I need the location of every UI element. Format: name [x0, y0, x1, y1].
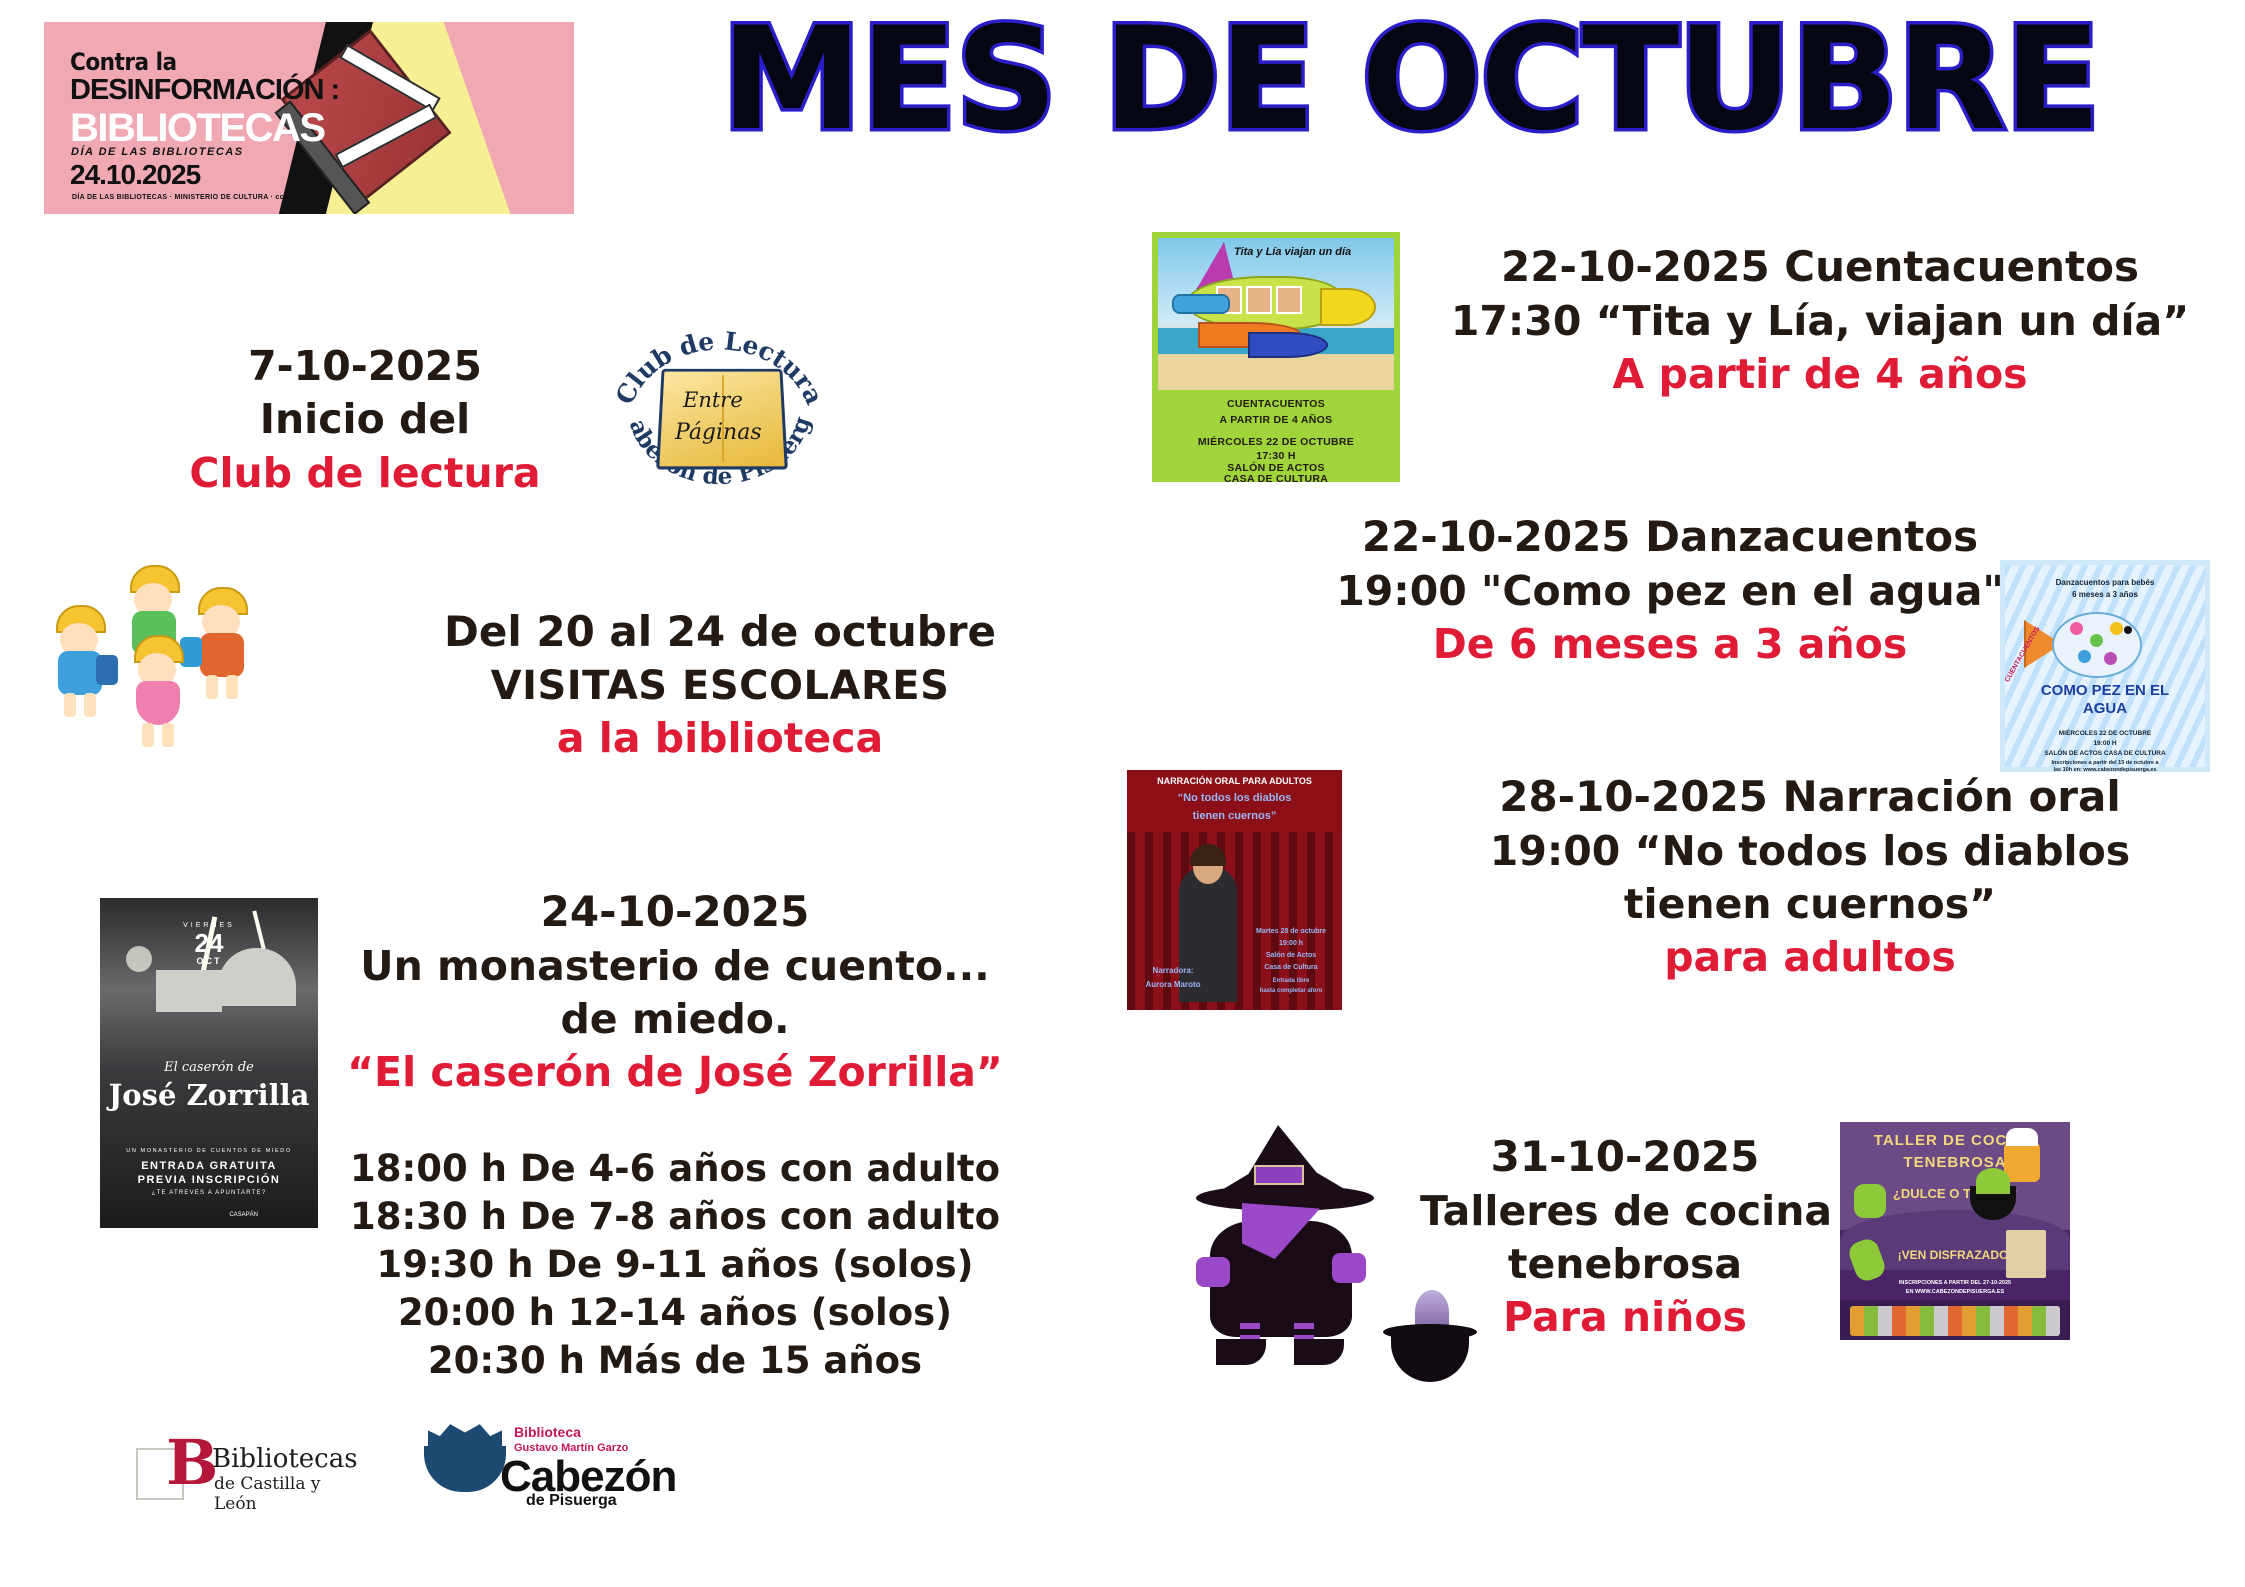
poster-pez-foot3: SALÓN DE ACTOS CASA DE CULTURA — [2000, 750, 2210, 757]
event-club-date: 7-10-2025 — [130, 340, 600, 393]
poster-narracion-info4: Casa de Cultura — [1245, 964, 1337, 971]
event-escolares-highlight: a la biblioteca — [410, 712, 1030, 765]
plane-wing-blue — [1172, 294, 1230, 314]
chef-hat-icon — [2006, 1128, 2038, 1146]
event-cocina-tenebrosa: 31-10-2025 Talleres de cocina tenebrosa … — [1420, 1130, 1830, 1344]
poster-taller-de-cocina-tenebrosa: TALLER DE COCINA TENEBROSA ¿DULCE O TRUC… — [1840, 1122, 2070, 1340]
event-cuentacuentos-age: A partir de 4 años — [1400, 348, 2240, 401]
event-monasterio-date: 24-10-2025 — [330, 885, 1020, 940]
poster-zorrilla-line2: PREVIA INSCRIPCIÓN — [100, 1174, 318, 1186]
event-escolares-title: VISITAS ESCOLARES — [410, 660, 1030, 712]
logo-bcyl-letter: B — [166, 1432, 218, 1494]
poster-narracion-title1: “No todos los diablos — [1127, 792, 1342, 804]
poster-zorrilla-line3: ¿TE ATREVES A APUNTARTE? — [100, 1190, 318, 1196]
poster-tita-cap6: CASA DE CULTURA — [1158, 473, 1394, 482]
poster-zorrilla-num: 24 — [100, 928, 318, 959]
poster-tita-cap3: MIÉRCOLES 22 DE OCTUBRE — [1158, 436, 1394, 448]
witch-boot-right — [1294, 1339, 1344, 1365]
poster-tita-cap1: CUENTACUENTOS — [1158, 398, 1394, 410]
cocina-potion-smoke-icon — [1976, 1168, 2010, 1194]
event-monasterio-line3: de miedo. — [330, 993, 1020, 1046]
schedule-row: 18:30 h De 7-8 años con adulto — [330, 1193, 1020, 1241]
poster-narracion-info3: Salón de Actos — [1245, 952, 1337, 959]
poster1-subtitle: DÍA DE LAS BIBLIOTECAS — [71, 146, 244, 158]
poster-narracion-narrator1: Narradora: — [1131, 966, 1215, 975]
poster1-date: 24.10.2025 — [70, 159, 200, 191]
fish-scale-3 — [2110, 622, 2123, 635]
club-logo-word-entre: Entre — [683, 388, 743, 412]
event-cocina-line3: tenebrosa — [1420, 1238, 1830, 1291]
poster1-line1: Contra la — [70, 48, 177, 76]
poster-pez-title1: COMO PEZ EN EL — [2000, 682, 2210, 699]
event-club-line2: Inicio del — [130, 393, 600, 446]
event-visitas-escolares: Del 20 al 24 de octubre VISITAS ESCOLARE… — [410, 605, 1030, 765]
event-danzacuentos-title: 22-10-2025 Danzacuentos — [1230, 510, 2110, 565]
event-danzacuentos-time: 19:00 "Como pez en el agua" — [1230, 565, 2110, 618]
monster-icon — [1854, 1184, 1886, 1218]
crown-icon — [428, 1420, 502, 1446]
poster-pez-foot1: MIÉRCOLES 22 DE OCTUBRE — [2000, 730, 2210, 737]
logo-bcyl-name1: Bibliotecas — [212, 1444, 358, 1474]
logo-cabezon-sub: de Pisuerga — [526, 1492, 617, 1510]
monastery-wing-shape — [156, 970, 222, 1012]
poster-tita-cap2: A PARTIR DE 4 AÑOS — [1158, 414, 1394, 426]
logo-club-de-lectura-entre-paginas: Club de Lectura Cabezón de Pisuerga Entr… — [607, 330, 832, 500]
illustration-schoolchildren — [30, 565, 320, 750]
logo-bibliotecas-de-castilla-y-leon: B Bibliotecas de Castilla y León — [120, 1430, 350, 1505]
poster1-line3: BIBLIOTECAS — [70, 106, 325, 151]
poster-pez-foot4: Inscripciones a partir del 15 de octubre… — [2000, 760, 2210, 766]
plane-wing-navy — [1248, 332, 1328, 358]
event-danzacuentos: 22-10-2025 Danzacuentos 19:00 "Como pez … — [1230, 510, 2110, 671]
poster-zorrilla-pre: El caserón de — [100, 1060, 318, 1075]
event-cocina-audience: Para niños — [1420, 1291, 1830, 1344]
chef-figure-shape — [2004, 1142, 2040, 1182]
poster-narracion-info6: hasta completar aforo — [1245, 988, 1337, 994]
poster-tita-banner: Tita y Lía viajan un día — [1234, 246, 1351, 258]
witch-boot-left — [1216, 1339, 1266, 1365]
page-title: MES DE OCTUBRE — [600, 8, 2220, 153]
poster-cuentacuentos-tita-y-lia: Tita y Lía viajan un día CUENTACUENTOS A… — [1152, 232, 1400, 482]
event-cuentacuentos-title: 22-10-2025 Cuentacuentos — [1400, 240, 2240, 295]
event-cuentacuentos: 22-10-2025 Cuentacuentos 17:30 “Tita y L… — [1400, 240, 2240, 401]
poster-zorrilla-brand: CASAPÁN — [100, 1212, 258, 1218]
poster-narracion-info5: Entrada libre — [1245, 978, 1337, 984]
witch-hat-band-shape — [1254, 1165, 1304, 1185]
witch-hand-right — [1332, 1253, 1366, 1283]
plane-nose-shape — [1320, 288, 1376, 326]
event-cocina-line2: Talleres de cocina — [1420, 1185, 1830, 1238]
poster-narracion-oral-diablos: NARRACIÓN ORAL PARA ADULTOS “No todos lo… — [1127, 770, 1342, 1010]
event-cuentacuentos-time: 17:30 “Tita y Lía, viajan un día” — [1400, 295, 2240, 348]
fish-scale-2 — [2090, 634, 2103, 647]
event-monasterio-schedule: 18:00 h De 4-6 años con adulto 18:30 h D… — [330, 1145, 1020, 1385]
poster-zorrilla-sub: UN MONASTERIO DE CUENTOS DE MIEDO — [100, 1148, 318, 1154]
poster-pez-title2: AGUA — [2000, 700, 2210, 717]
trick-or-treat-bag-icon — [2006, 1230, 2046, 1278]
poster-pez-head2: 6 meses a 3 años — [2000, 590, 2210, 599]
event-monasterio-title: “El caserón de José Zorrilla” — [330, 1046, 1020, 1099]
event-danzacuentos-age: De 6 meses a 3 años — [1230, 618, 2110, 671]
club-logo-word-paginas: Páginas — [675, 420, 762, 445]
event-club-de-lectura: 7-10-2025 Inicio del Club de lectura — [130, 340, 600, 500]
event-narracion-line3: tienen cuernos” — [1380, 878, 2240, 931]
poster-dia-de-las-bibliotecas: Contra la DESINFORMACIÓN : BIBLIOTECAS D… — [44, 22, 574, 214]
poster-zorrilla-line1: ENTRADA GRATUITA — [100, 1160, 318, 1172]
event-narracion-audience: para adultos — [1380, 931, 2240, 984]
plane-window-3 — [1276, 286, 1302, 314]
logo-biblioteca-cabezon-de-pisuerga: Biblioteca Gustavo Martín Garzo Cabezón … — [408, 1418, 658, 1508]
fish-scale-5 — [2104, 652, 2117, 665]
fish-eye — [2124, 626, 2132, 634]
poster-cocina-small1: INSCRIPCIONES A PARTIR DEL 27-10-2025 — [1840, 1280, 2070, 1286]
event-club-highlight: Club de lectura — [130, 447, 600, 500]
event-narracion-oral: 28-10-2025 Narración oral 19:00 “No todo… — [1380, 770, 2240, 984]
poster-cocina-small2: EN WWW.CABEZONDEPISUERGA.ES — [1840, 1289, 2070, 1295]
fish-scale-4 — [2078, 650, 2091, 663]
poster1-sponsor-logos: DÍA DE LAS BIBLIOTECAS · MINISTERIO DE C… — [72, 194, 286, 201]
poster-narracion-info1: Martes 28 de octubre — [1245, 928, 1337, 935]
poster-narracion-narrator2: Aurora Maroto — [1131, 980, 1215, 989]
poster-pez-foot2: 19:00 H — [2000, 740, 2210, 747]
event-escolares-dates: Del 20 al 24 de octubre — [410, 605, 1030, 660]
poster-el-caseron-de-jose-zorrilla: VIERNES 24 OCT El caserón de José Zorril… — [100, 898, 318, 1228]
sand-shape — [1158, 354, 1394, 390]
witch-hand-left — [1196, 1257, 1230, 1287]
poster-narracion-head: NARRACIÓN ORAL PARA ADULTOS — [1127, 776, 1342, 786]
poster-pez-head1: Danzacuentos para bebés — [2000, 578, 2210, 587]
poster-tita-cap4: 17:30 H — [1158, 450, 1394, 462]
poster-zorrilla-name: José Zorrilla — [100, 1078, 318, 1112]
poster-narracion-title2: tienen cuernos” — [1127, 810, 1342, 822]
schedule-row: 20:30 h Más de 15 años — [330, 1337, 1020, 1385]
event-narracion-line2: 19:00 “No todos los diablos — [1380, 825, 2240, 878]
poster-narracion-info2: 19:00 h — [1245, 940, 1337, 947]
event-monasterio-de-cuento: 24-10-2025 Un monasterio de cuento... de… — [330, 885, 1020, 1099]
schedule-row: 20:00 h 12-14 años (solos) — [330, 1289, 1020, 1337]
poster-danzacuentos-como-pez-en-el-agua: Danzacuentos para bebés 6 meses a 3 años… — [2000, 560, 2210, 772]
fish-scale-1 — [2070, 622, 2083, 635]
schedule-row: 19:30 h De 9-11 años (solos) — [330, 1241, 1020, 1289]
event-cocina-date: 31-10-2025 — [1420, 1130, 1830, 1185]
plane-window-2 — [1246, 286, 1272, 314]
poster-zorrilla-month: OCT — [100, 956, 318, 966]
halloween-icons-row — [1850, 1306, 2060, 1336]
schedule-row: 18:00 h De 4-6 años con adulto — [330, 1145, 1020, 1193]
event-monasterio-line2: Un monasterio de cuento... — [330, 940, 1020, 993]
logo-bcyl-name2: de Castilla y León — [214, 1474, 350, 1514]
poster1-line2: DESINFORMACIÓN : — [70, 74, 339, 107]
logo-cabezon-small1: Biblioteca — [514, 1424, 581, 1440]
shield-icon — [424, 1446, 506, 1492]
event-narracion-title: 28-10-2025 Narración oral — [1380, 770, 2240, 825]
